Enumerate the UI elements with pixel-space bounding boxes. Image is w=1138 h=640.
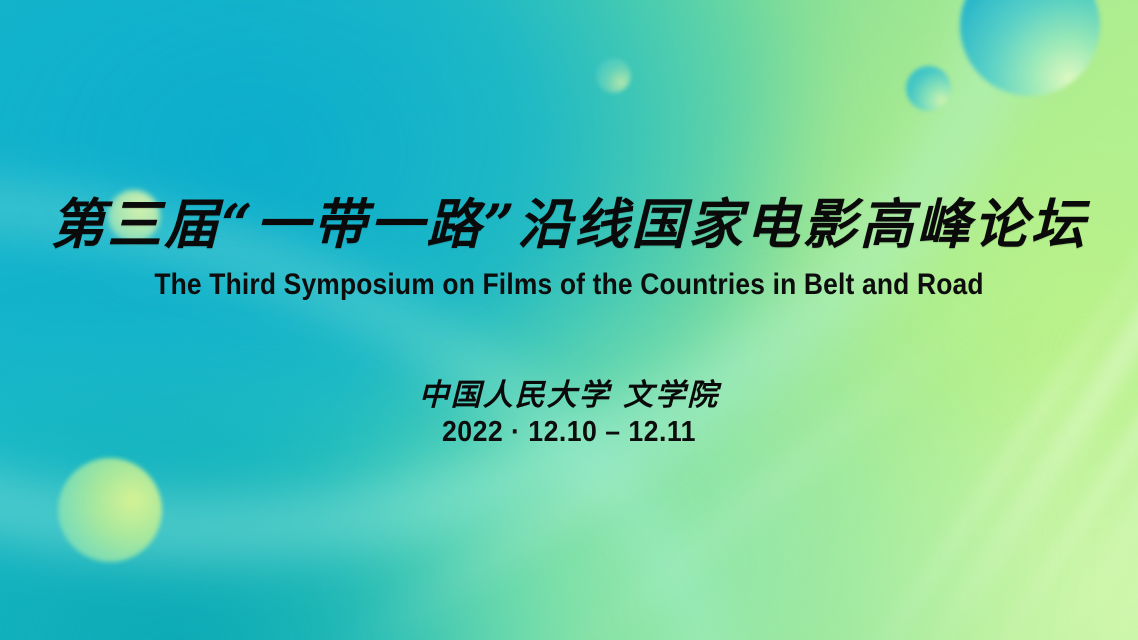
event-poster: 第三届“一带一路”沿线国家电影高峰论坛 The Third Symposium … [0,0,1138,640]
organizer-label: 中国人民大学 文学院 [0,370,1138,414]
page-subtitle-english: The Third Symposium on Films of the Coun… [68,268,1069,302]
page-title: 第三届“一带一路”沿线国家电影高峰论坛 [0,196,1138,253]
event-date: 2022 · 12.10 – 12.11 [46,416,1093,449]
poster-content: 第三届“一带一路”沿线国家电影高峰论坛 The Third Symposium … [0,0,1138,640]
